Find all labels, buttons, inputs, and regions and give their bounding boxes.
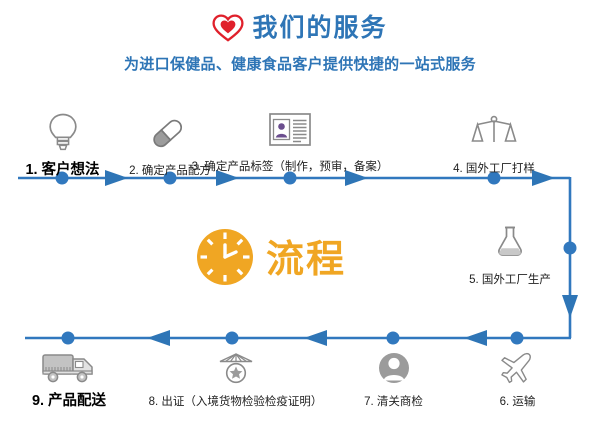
flow-step-1[interactable]: 1. 客户想法 — [0, 112, 125, 179]
flow-step-5-label: 5. 国外工厂生产 — [469, 274, 551, 286]
flow-step-5[interactable]: 5. 国外工厂生产 — [455, 225, 565, 288]
flow-step-4[interactable]: 4. 国外工厂打样 — [434, 112, 554, 177]
flow-step-8-label: 8. 出证（入境货物检验检疫证明） — [149, 396, 323, 408]
flow-step-7[interactable]: 7. 清关商检 — [340, 352, 447, 410]
person-badge-icon — [340, 352, 447, 389]
flow-step-9[interactable]: 9. 产品配送 — [5, 350, 133, 410]
flow-step-4-label: 4. 国外工厂打样 — [453, 163, 535, 175]
flow-step-3[interactable]: 3. 确定产品标签（制作，预审，备案） — [175, 112, 405, 175]
airplane-icon — [465, 352, 570, 389]
flow-step-9-label: 9. 产品配送 — [32, 393, 106, 409]
header: 我们的服务 为进口保健品、健康食品客户提供快捷的一站式服务 — [0, 14, 600, 74]
flow-step-7-label: 7. 清关商检 — [364, 396, 423, 408]
flow-step-1-label: 1. 客户想法 — [25, 162, 99, 178]
flow-step-3-label: 3. 确定产品标签（制作，预审，备案） — [192, 161, 389, 173]
id-card-icon — [175, 112, 405, 153]
page-subtitle: 为进口保健品、健康食品客户提供快捷的一站式服务 — [0, 53, 600, 74]
center-logo-label: 流程 — [266, 241, 346, 279]
infographic-canvas: 我们的服务 为进口保健品、健康食品客户提供快捷的一站式服务 — [0, 0, 600, 432]
center-logo: 流程 — [196, 228, 346, 291]
flask-bottle-icon — [455, 225, 565, 270]
flow-step-6[interactable]: 6. 运输 — [465, 352, 570, 410]
flow-step-8[interactable]: 8. 出证（入境货物检验检疫证明） — [128, 352, 343, 410]
flow-step-6-label: 6. 运输 — [500, 396, 536, 408]
clock-icon — [196, 228, 254, 291]
award-seal-icon — [128, 352, 343, 389]
balance-scale-icon — [434, 112, 554, 155]
lightbulb-icon — [0, 112, 125, 157]
title-row: 我们的服务 — [0, 14, 600, 42]
delivery-truck-icon — [5, 350, 133, 389]
heart-icon — [212, 14, 244, 42]
page-title: 我们的服务 — [252, 16, 387, 41]
